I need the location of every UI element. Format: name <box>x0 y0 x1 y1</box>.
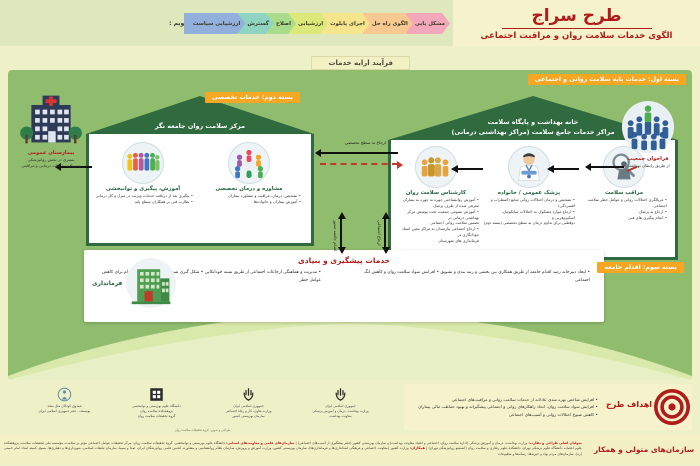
partners-seg-c: سازمان‌های علمی و معاونت‌های استانی: <box>226 441 294 445</box>
node-bullets: • تشخیص و درمان اختلالات روانی شایع (اضط… <box>483 197 575 226</box>
node-bullets: • آموزش روانشناختی چهره به چهره به بیمار… <box>393 197 479 244</box>
footnote: طراحی و تدوین: گروه تحقیقات سلامت روان <box>0 428 405 432</box>
top-bar: تقویم : مشکل یابی الگوی راه حل اجرای پای… <box>0 0 700 46</box>
badge-package-second: بسته دوم: خدمات تخصصی <box>205 92 300 103</box>
process-tab: فرآیند ارایه خدمات <box>311 56 410 70</box>
organization-name: جمهوری اسلامی ایران وزارت تعاون، کار و ر… <box>210 404 288 419</box>
node-general-physician[interactable]: پزشک عمومی / خانواده • تشخیص و درمان اخت… <box>483 146 575 226</box>
process-step-ejra-pilot[interactable]: اجرای پایلوت <box>321 13 370 34</box>
title-block: طرح سراج الگوی خدمات سلامت روان و مراقبت… <box>453 0 700 46</box>
node-label: مشاوره و درمان تخصصی <box>197 186 301 192</box>
process-step-label: مشکل یابی <box>415 21 445 27</box>
organization-name: دانشگاه علوم بهزیستی و توانبخشی پژوهشکده… <box>118 404 196 419</box>
process-step-label: اصلاح <box>276 21 291 27</box>
referral-connectors: ارجاع به سطح تخصصی <box>316 146 402 170</box>
node-mental-health-expert[interactable]: کارشناس سلامت روان • آموزش روانشناختی چه… <box>393 146 479 244</box>
process-step-label: اجرای پایلوت <box>330 21 365 27</box>
government-building-icon <box>126 258 176 308</box>
target-icon <box>652 389 692 425</box>
organization-item: صندوق کودکان ملل متحد یونیسف - دفتر جمهو… <box>26 386 104 414</box>
goal-item: • افزایش سواد سلامت روان، اتخاذ راهکارها… <box>410 403 598 410</box>
partners-seg-a: متولیان اصلی طراحی و نظارت: <box>528 441 582 445</box>
partners-label: سازمان‌های متولی و همکار <box>588 445 700 454</box>
organization-item: جمهوری اسلامی ایران وزارت بهداشت، درمان … <box>302 386 380 419</box>
process-step-strip: تقویم : مشکل یابی الگوی راه حل اجرای پای… <box>191 13 450 34</box>
node-label: کارشناس سلامت روان <box>393 190 479 196</box>
referral-up-arrow <box>320 152 398 154</box>
people-row-icon <box>122 142 164 184</box>
goal-item: • کاهش شیوع اختلالات روانی و آسیب‌های اج… <box>410 411 598 418</box>
badge-package-third: بسته سوم: اقدام جامعه <box>597 262 684 273</box>
hospital-icon <box>12 90 90 148</box>
organization-item: جمهوری اسلامی ایران وزارت تعاون، کار و ر… <box>210 386 288 419</box>
process-step-label: ارزشیابی سیاست <box>193 21 240 27</box>
bottom-panel-column-left: • ایجاد دبیرخانه رصد اقدام جامعه از طریق… <box>361 269 590 284</box>
node-counseling-treatment[interactable]: مشاوره و درمان تخصصی • تشخیص، درمان، مرا… <box>197 142 301 205</box>
unicef-logo-icon <box>26 386 104 403</box>
node-label: پزشک عمومی / خانواده <box>483 190 575 196</box>
node-description: از طریق رابطان بهداشتی <box>608 163 688 169</box>
main-diagram-panel: بسته اول: خدمات پایه سلامت روانی و اجتما… <box>8 70 692 380</box>
node-label: آموزش، پیگیری و توانبخشی <box>93 186 193 192</box>
node-education-rehab[interactable]: آموزش، پیگیری و توانبخشی • پیگیری بعد از… <box>93 142 193 205</box>
title-divider <box>502 28 652 30</box>
flow-arrow-2 <box>457 168 483 170</box>
community-action-label: اقدام جامعه محور <box>333 220 338 251</box>
node-label: بیمارستان عمومی <box>12 150 90 156</box>
footer: اهداف طرح • افزایش شاخص بهره مندی عادلان… <box>0 382 700 466</box>
preventive-services-panel: خدمات پیشگیری و بنیادی • ایجاد دبیرخانه … <box>84 250 604 322</box>
goal-item: • افزایش شاخص بهره مندی عادلانه از خدمات… <box>410 396 598 403</box>
iran-emblem-icon <box>302 386 380 403</box>
node-bullets: • تشخیص، درمان، مراقبت و مشاوره بیماران … <box>197 193 301 205</box>
process-step-label: ارزشیابی <box>298 21 323 27</box>
goals-title: اهداف طرح <box>606 400 652 409</box>
flow-arrow-1 <box>553 168 579 170</box>
doctor-icon <box>508 146 550 188</box>
node-governor-office[interactable]: فرمانداری <box>92 258 176 308</box>
referral-up-label: ارجاع به سطح تخصصی <box>345 140 386 145</box>
partners-seg-e: همکاران: <box>410 446 425 450</box>
crowd-icon <box>608 100 688 154</box>
page-title: طرح سراج <box>531 7 621 26</box>
node-general-hospital[interactable]: بیمارستان عمومی بستری در بخش روانپزشکی و… <box>12 90 90 170</box>
node-label: مراقب سلامت <box>581 190 667 196</box>
process-step-label: الگوی راه حل <box>372 21 408 27</box>
house-specialized-services: مرکز سلامت روان جامعه نگر <box>86 96 314 246</box>
partners-seg-b: وزارت بهداشت، درمان و آموزش پزشکی (اداره… <box>294 441 528 445</box>
node-label: فراخوان جمعیت <box>608 156 688 162</box>
node-population-call[interactable]: فراخوان جمعیت از طریق رابطان بهداشتی <box>608 100 688 169</box>
social-referral-label: ارجاع اجتماعی <box>377 220 382 246</box>
node-bullets: • پیگیری بعد از دریافت خدمات ویزیت در من… <box>93 193 193 205</box>
partners-text: متولیان اصلی طراحی و نظارت: وزارت بهداشت… <box>0 441 588 458</box>
house-special-body: مشاوره و درمان تخصصی • تشخیص، درمان، مرا… <box>86 134 314 246</box>
organization-logos: جمهوری اسلامی ایران وزارت بهداشت، درمان … <box>0 382 405 430</box>
governor-label: فرمانداری <box>92 280 122 287</box>
process-step-olgu-rah-hal[interactable]: الگوی راه حل <box>363 13 413 34</box>
welfare-logo-icon <box>118 386 196 403</box>
page-subtitle: الگوی خدمات سلامت روان و مراقبت اجتماعی <box>481 31 673 41</box>
badge-package-first: بسته اول: خدمات پایه سلامت روانی و اجتما… <box>528 74 686 85</box>
partners-bar: سازمان‌های متولی و همکار متولیان اصلی طر… <box>0 434 700 464</box>
organization-item: دانشگاه علوم بهزیستی و توانبخشی پژوهشکده… <box>118 386 196 419</box>
referral-back-arrow <box>320 163 398 165</box>
node-description: بستری در بخش روانپزشکی و دریافت خدمات در… <box>12 157 90 170</box>
house-special-roof-text: مرکز سلامت روان جامعه نگر <box>86 122 314 131</box>
iran-emblem-icon <box>210 386 288 403</box>
organization-name: جمهوری اسلامی ایران وزارت بهداشت، درمان … <box>302 404 380 419</box>
goals-box: اهداف طرح • افزایش شاخص بهره مندی عادلان… <box>404 384 692 430</box>
counseling-group-icon <box>228 142 270 184</box>
process-step-arzeshyabi-siasat[interactable]: ارزشیابی سیاست <box>184 13 245 34</box>
node-bullets: • غربالگری اختلالات روانی و عوامل خطر سل… <box>581 197 667 220</box>
process-step-label: گسترش <box>247 21 269 27</box>
organization-name: صندوق کودکان ملل متحد یونیسف - دفتر جمهو… <box>26 404 104 414</box>
